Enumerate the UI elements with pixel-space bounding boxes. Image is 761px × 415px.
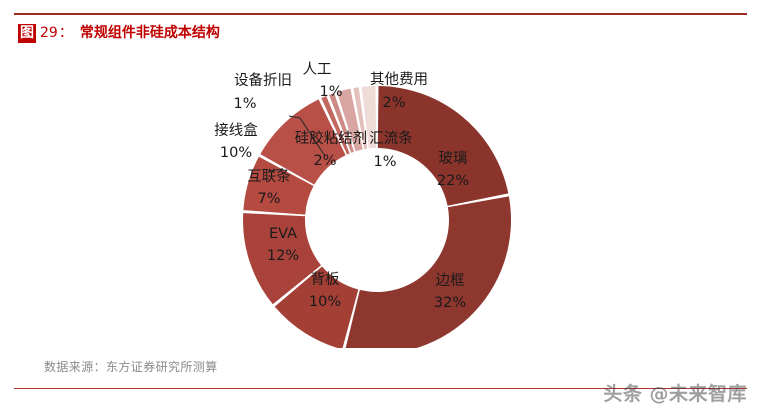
label-labor-name: 人工 <box>303 61 332 78</box>
label-glass-name: 玻璃 <box>439 150 468 167</box>
figure-tag-badge: 图 <box>18 24 36 43</box>
label-glass-pct: 22% <box>437 173 469 189</box>
label-other-name: 其他费用 <box>370 71 428 88</box>
figure-number: 29 <box>40 25 58 41</box>
page-title: 常规组件非硅成本结构 <box>80 22 220 42</box>
label-backsheet-pct: 10% <box>309 294 341 310</box>
label-frame-name: 边框 <box>436 272 465 289</box>
label-other-pct: 2% <box>382 95 405 111</box>
label-depreciation-pct: 1% <box>233 96 256 112</box>
label-interconnect-pct: 7% <box>257 191 280 207</box>
source-note: 数据来源：东方证券研究所测算 <box>44 358 218 375</box>
label-junction-box-name: 接线盒 <box>214 122 258 139</box>
label-interconnect-name: 互联条 <box>247 168 291 185</box>
watermark: 头条 @未来智库 <box>603 379 747 406</box>
label-adhesive-name: 硅胶粘结剂 <box>295 130 368 147</box>
label-backsheet-name: 背板 <box>311 270 340 288</box>
header-divider <box>14 13 747 15</box>
label-junction-box-pct: 10% <box>220 145 252 161</box>
label-eva-name: EVA <box>269 226 297 242</box>
figure-colon: ： <box>59 22 73 42</box>
label-frame-pct: 32% <box>434 295 466 311</box>
slice-frame[interactable] <box>345 196 511 348</box>
label-busbar-pct: 1% <box>373 154 396 170</box>
label-adhesive-pct: 2% <box>313 153 336 169</box>
label-depreciation-name: 设备折旧 <box>234 72 292 89</box>
donut-chart: 玻璃 22% 边框 32% 背板 10% EVA 12% 互联条 7% 接线盒 … <box>0 48 761 348</box>
figure-title-row: 图 29 ： 常规组件非硅成本结构 <box>18 22 220 43</box>
label-eva-pct: 12% <box>267 248 299 264</box>
label-busbar-name: 汇流条 <box>369 130 413 147</box>
chart-container: 玻璃 22% 边框 32% 背板 10% EVA 12% 互联条 7% 接线盒 … <box>0 48 761 348</box>
label-labor-pct: 1% <box>319 84 342 100</box>
